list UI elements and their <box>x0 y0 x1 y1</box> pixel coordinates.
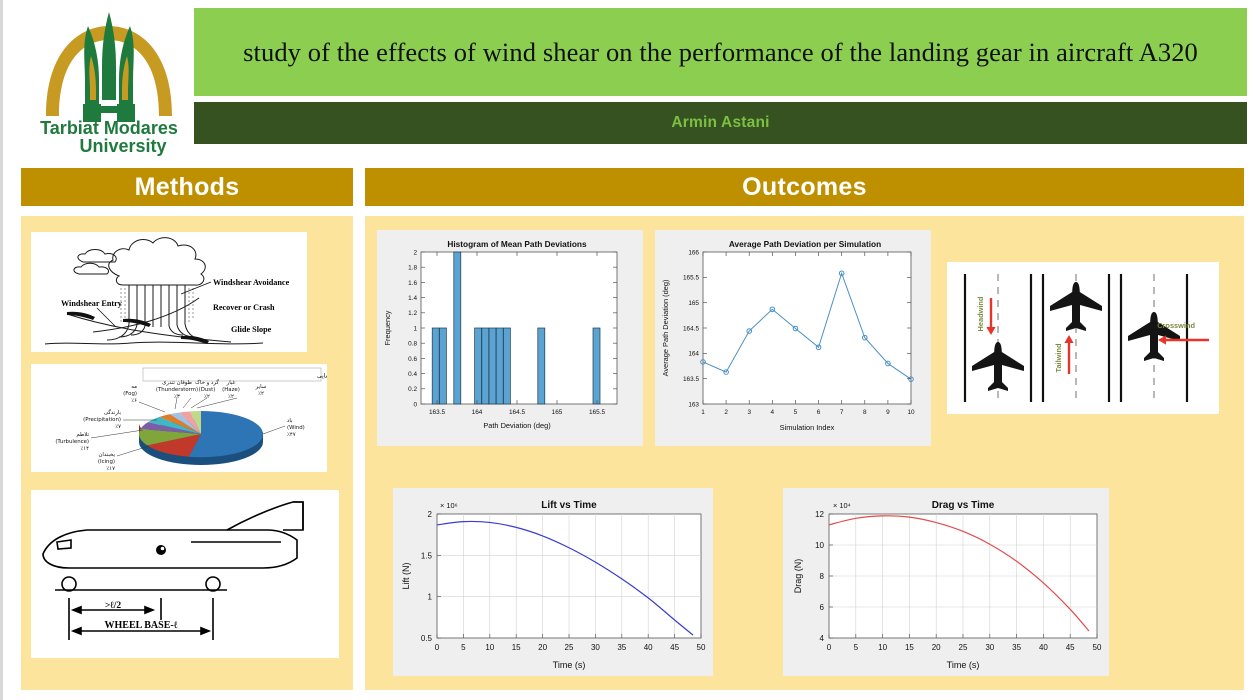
svg-text:٪۳: ٪۳ <box>174 394 180 400</box>
svg-text:4: 4 <box>820 634 825 643</box>
svg-text:164.5: 164.5 <box>509 409 525 416</box>
svg-text:163.5: 163.5 <box>429 409 445 416</box>
svg-text:164.5: 164.5 <box>683 325 699 332</box>
svg-text:1.5: 1.5 <box>421 551 433 560</box>
university-logo: Tarbiat Modares University <box>28 4 190 156</box>
histogram-ylabel: Frequency <box>383 310 392 345</box>
pie-label-fog: مه (Fog) ٪۶ <box>123 384 137 404</box>
svg-text:(Precipitation): (Precipitation) <box>83 417 121 423</box>
drag-ylabel: Drag (N) <box>793 559 803 594</box>
svg-text:٪۱۴: ٪۱۴ <box>80 446 89 452</box>
histogram-plot-area <box>421 252 617 404</box>
svg-text:(Haze): (Haze) <box>222 387 240 393</box>
svg-text:165.5: 165.5 <box>589 409 605 416</box>
svg-text:6: 6 <box>820 603 825 612</box>
svg-text:(Turbulence): (Turbulence) <box>55 439 89 445</box>
lift-y-exponent: × 10⁶ <box>440 501 458 510</box>
svg-text:9: 9 <box>886 409 890 416</box>
label-tailwind: Tailwind <box>1054 343 1063 372</box>
windshear-diagram-figure: Windshear Entry Windshear Avoidance Reco… <box>31 232 307 352</box>
pie-label-haze: غبار (Haze) ٪۲ <box>222 380 240 400</box>
label-windshear-entry: Windshear Entry <box>61 299 123 308</box>
label-crosswind: Crosswind <box>1157 321 1195 330</box>
pie-label-dust: گرد و خاک (Dust) ٪۲ <box>195 379 219 400</box>
svg-text:گرد و خاک: گرد و خاک <box>195 379 219 386</box>
poster-title-banner: study of the effects of wind shear on th… <box>194 8 1247 96</box>
section-title-outcomes: Outcomes <box>742 173 867 202</box>
svg-text:164: 164 <box>472 409 483 416</box>
avgdev-ylabel: Average Path Deviation (deg) <box>661 280 670 377</box>
lift-title: Lift vs Time <box>541 500 597 511</box>
svg-text:20: 20 <box>538 643 547 652</box>
svg-text:25: 25 <box>565 643 574 652</box>
avg-path-deviation-svg: Average Path Deviation per Simulation 16… <box>655 230 931 446</box>
pie-label-turbulence: تلاطم (Turbulence) ٪۱۴ <box>55 432 89 452</box>
svg-text:0.5: 0.5 <box>421 634 433 643</box>
svg-text:40: 40 <box>1039 643 1048 652</box>
lift-vs-time-svg: Lift vs Time × 10⁶ 0.511.52 051015202530… <box>393 488 713 676</box>
svg-text:٪۲: ٪۲ <box>228 394 234 400</box>
histogram-svg: Histogram of Mean Path Deviations 00.20.… <box>377 230 643 446</box>
svg-text:30: 30 <box>985 643 994 652</box>
aircraft-wheelbase-svg: >ℓ/2 WHEEL BASE-ℓ <box>31 490 339 658</box>
poster-author: Armin Astani <box>671 114 769 132</box>
svg-text:سایر: سایر <box>255 384 267 390</box>
svg-text:مه: مه <box>131 384 137 390</box>
svg-text:3: 3 <box>747 409 751 416</box>
pie-label-thunderstorm: طوفان تندری (Thunderstorm) ٪۳ <box>156 380 198 400</box>
poster-title: study of the effects of wind shear on th… <box>243 36 1198 68</box>
pie-caption: عامل اصلی : باد با ۲۰۲۲ سانحه و ۱۳/۷٪ از… <box>317 373 327 380</box>
svg-text:٪۱۷: ٪۱۷ <box>106 466 115 472</box>
wind-direction-figure: Headwind Tailwind Crosswind <box>947 262 1219 414</box>
svg-text:40: 40 <box>644 643 653 652</box>
svg-text:166: 166 <box>688 249 699 256</box>
svg-text:165: 165 <box>688 300 699 307</box>
pie-label-icing: یخبندان (Icing) ٪۱۷ <box>98 452 116 472</box>
svg-text:٪۲: ٪۲ <box>204 394 210 400</box>
drag-xlabel: Time (s) <box>947 660 980 670</box>
svg-text:بارندگی: بارندگی <box>104 409 122 416</box>
poster-header: Tarbiat Modares University study of the … <box>6 0 1253 158</box>
university-logo-svg: Tarbiat Modares University <box>28 4 190 156</box>
center-of-gravity-marker <box>156 545 166 555</box>
svg-text:50: 50 <box>697 643 706 652</box>
svg-text:غبار: غبار <box>226 380 236 386</box>
svg-text:50: 50 <box>1093 643 1102 652</box>
svg-text:45: 45 <box>670 643 679 652</box>
svg-text:0: 0 <box>435 643 440 652</box>
svg-text:10: 10 <box>907 409 915 416</box>
drag-vs-time-figure: Drag vs Time × 10⁴ 4681012 0510152025303… <box>783 488 1109 676</box>
svg-text:20: 20 <box>932 643 941 652</box>
section-header-outcomes: Outcomes <box>365 168 1244 206</box>
svg-text:٪۴۷: ٪۴۷ <box>287 432 296 438</box>
drag-y-exponent: × 10⁴ <box>833 501 851 510</box>
svg-text:7: 7 <box>840 409 844 416</box>
svg-text:15: 15 <box>905 643 914 652</box>
logo-text-line2: University <box>79 136 166 156</box>
svg-text:(Fog): (Fog) <box>123 391 137 397</box>
windshear-diagram-svg: Windshear Entry Windshear Avoidance Reco… <box>31 232 307 352</box>
pie-label-wind: باد (Wind) ٪۴۷ <box>287 418 305 438</box>
svg-text:1.4: 1.4 <box>408 295 417 302</box>
poster-page: Tarbiat Modares University study of the … <box>0 0 1253 700</box>
svg-text:45: 45 <box>1066 643 1075 652</box>
svg-text:0: 0 <box>413 401 417 408</box>
label-half-length: >ℓ/2 <box>105 601 122 611</box>
svg-text:8: 8 <box>863 409 867 416</box>
svg-text:٪۶: ٪۶ <box>131 398 137 404</box>
svg-text:10: 10 <box>485 643 494 652</box>
svg-text:1.6: 1.6 <box>408 280 417 287</box>
label-recover-or-crash: Recover or Crash <box>213 303 275 312</box>
svg-text:(Dust): (Dust) <box>199 387 216 393</box>
accident-causes-pie-figure: عامل اصلی : باد با ۲۰۲۲ سانحه و ۱۳/۷٪ از… <box>31 364 327 472</box>
wind-direction-svg: Headwind Tailwind Crosswind <box>947 262 1219 414</box>
svg-text:0.8: 0.8 <box>408 341 417 348</box>
svg-text:164: 164 <box>688 351 699 358</box>
svg-text:25: 25 <box>959 643 968 652</box>
svg-text:1: 1 <box>701 409 705 416</box>
svg-text:35: 35 <box>1012 643 1021 652</box>
label-windshear-avoidance: Windshear Avoidance <box>213 278 290 287</box>
svg-text:٪۲: ٪۲ <box>258 391 264 397</box>
pie-label-precipitation: بارندگی (Precipitation) ٪۷ <box>83 409 121 430</box>
svg-text:163: 163 <box>688 401 699 408</box>
lift-ylabel: Lift (N) <box>401 562 411 589</box>
svg-text:5: 5 <box>794 409 798 416</box>
section-header-methods: Methods <box>21 168 353 206</box>
svg-text:2: 2 <box>428 510 433 519</box>
label-glide-slope: Glide Slope <box>231 325 272 334</box>
svg-text:30: 30 <box>591 643 600 652</box>
cg-highlight <box>161 547 165 551</box>
lift-xlabel: Time (s) <box>553 660 586 670</box>
accident-causes-pie-svg: عامل اصلی : باد با ۲۰۲۲ سانحه و ۱۳/۷٪ از… <box>31 364 327 472</box>
svg-text:10: 10 <box>878 643 887 652</box>
histogram-title: Histogram of Mean Path Deviations <box>447 239 587 249</box>
svg-text:165: 165 <box>552 409 563 416</box>
lift-vs-time-figure: Lift vs Time × 10⁶ 0.511.52 051015202530… <box>393 488 713 676</box>
pie-slices <box>139 411 263 457</box>
pie-label-other: سایر ٪۲ <box>255 384 267 397</box>
svg-text:یخبندان: یخبندان <box>98 452 115 458</box>
svg-text:(Thunderstorm): (Thunderstorm) <box>156 387 198 393</box>
aircraft-wheelbase-figure: >ℓ/2 WHEEL BASE-ℓ <box>31 490 339 658</box>
svg-text:0.2: 0.2 <box>408 386 417 393</box>
histogram-figure: Histogram of Mean Path Deviations 00.20.… <box>377 230 643 446</box>
svg-text:٪۷: ٪۷ <box>115 424 121 430</box>
label-wheel-base: WHEEL BASE-ℓ <box>105 620 178 631</box>
svg-text:5: 5 <box>854 643 859 652</box>
svg-text:0.6: 0.6 <box>408 356 417 363</box>
svg-text:0.4: 0.4 <box>408 371 417 378</box>
svg-text:1: 1 <box>428 593 433 602</box>
svg-text:(Icing): (Icing) <box>98 459 115 465</box>
avgdev-xlabel: Simulation Index <box>780 423 835 432</box>
svg-text:طوفان تندری: طوفان تندری <box>162 380 192 386</box>
svg-text:163.5: 163.5 <box>683 376 699 383</box>
svg-text:4: 4 <box>771 409 775 416</box>
label-headwind: Headwind <box>976 296 985 331</box>
svg-text:15: 15 <box>512 643 521 652</box>
svg-text:2: 2 <box>724 409 728 416</box>
svg-text:(Wind): (Wind) <box>287 425 305 431</box>
logo-text-line1: Tarbiat Modares <box>40 118 178 138</box>
drag-vs-time-svg: Drag vs Time × 10⁴ 4681012 0510152025303… <box>783 488 1109 676</box>
section-title-methods: Methods <box>135 173 240 202</box>
svg-text:تلاطم: تلاطم <box>76 432 89 438</box>
svg-text:1.2: 1.2 <box>408 310 417 317</box>
svg-text:1: 1 <box>413 325 417 332</box>
svg-text:8: 8 <box>820 572 825 581</box>
avg-path-deviation-figure: Average Path Deviation per Simulation 16… <box>655 230 931 446</box>
avgdev-plot-area <box>703 252 911 404</box>
histogram-xlabel: Path Deviation (deg) <box>483 421 550 430</box>
svg-text:باد: باد <box>287 418 293 424</box>
svg-text:12: 12 <box>815 510 824 519</box>
drag-title: Drag vs Time <box>932 500 995 511</box>
poster-author-banner: Armin Astani <box>194 102 1247 144</box>
svg-text:35: 35 <box>617 643 626 652</box>
svg-text:2: 2 <box>413 249 417 256</box>
svg-text:6: 6 <box>817 409 821 416</box>
svg-text:1.8: 1.8 <box>408 265 417 272</box>
svg-text:0: 0 <box>827 643 832 652</box>
svg-text:5: 5 <box>461 643 466 652</box>
avgdev-title: Average Path Deviation per Simulation <box>729 239 881 249</box>
svg-text:10: 10 <box>815 541 824 550</box>
svg-text:165.5: 165.5 <box>683 275 699 282</box>
